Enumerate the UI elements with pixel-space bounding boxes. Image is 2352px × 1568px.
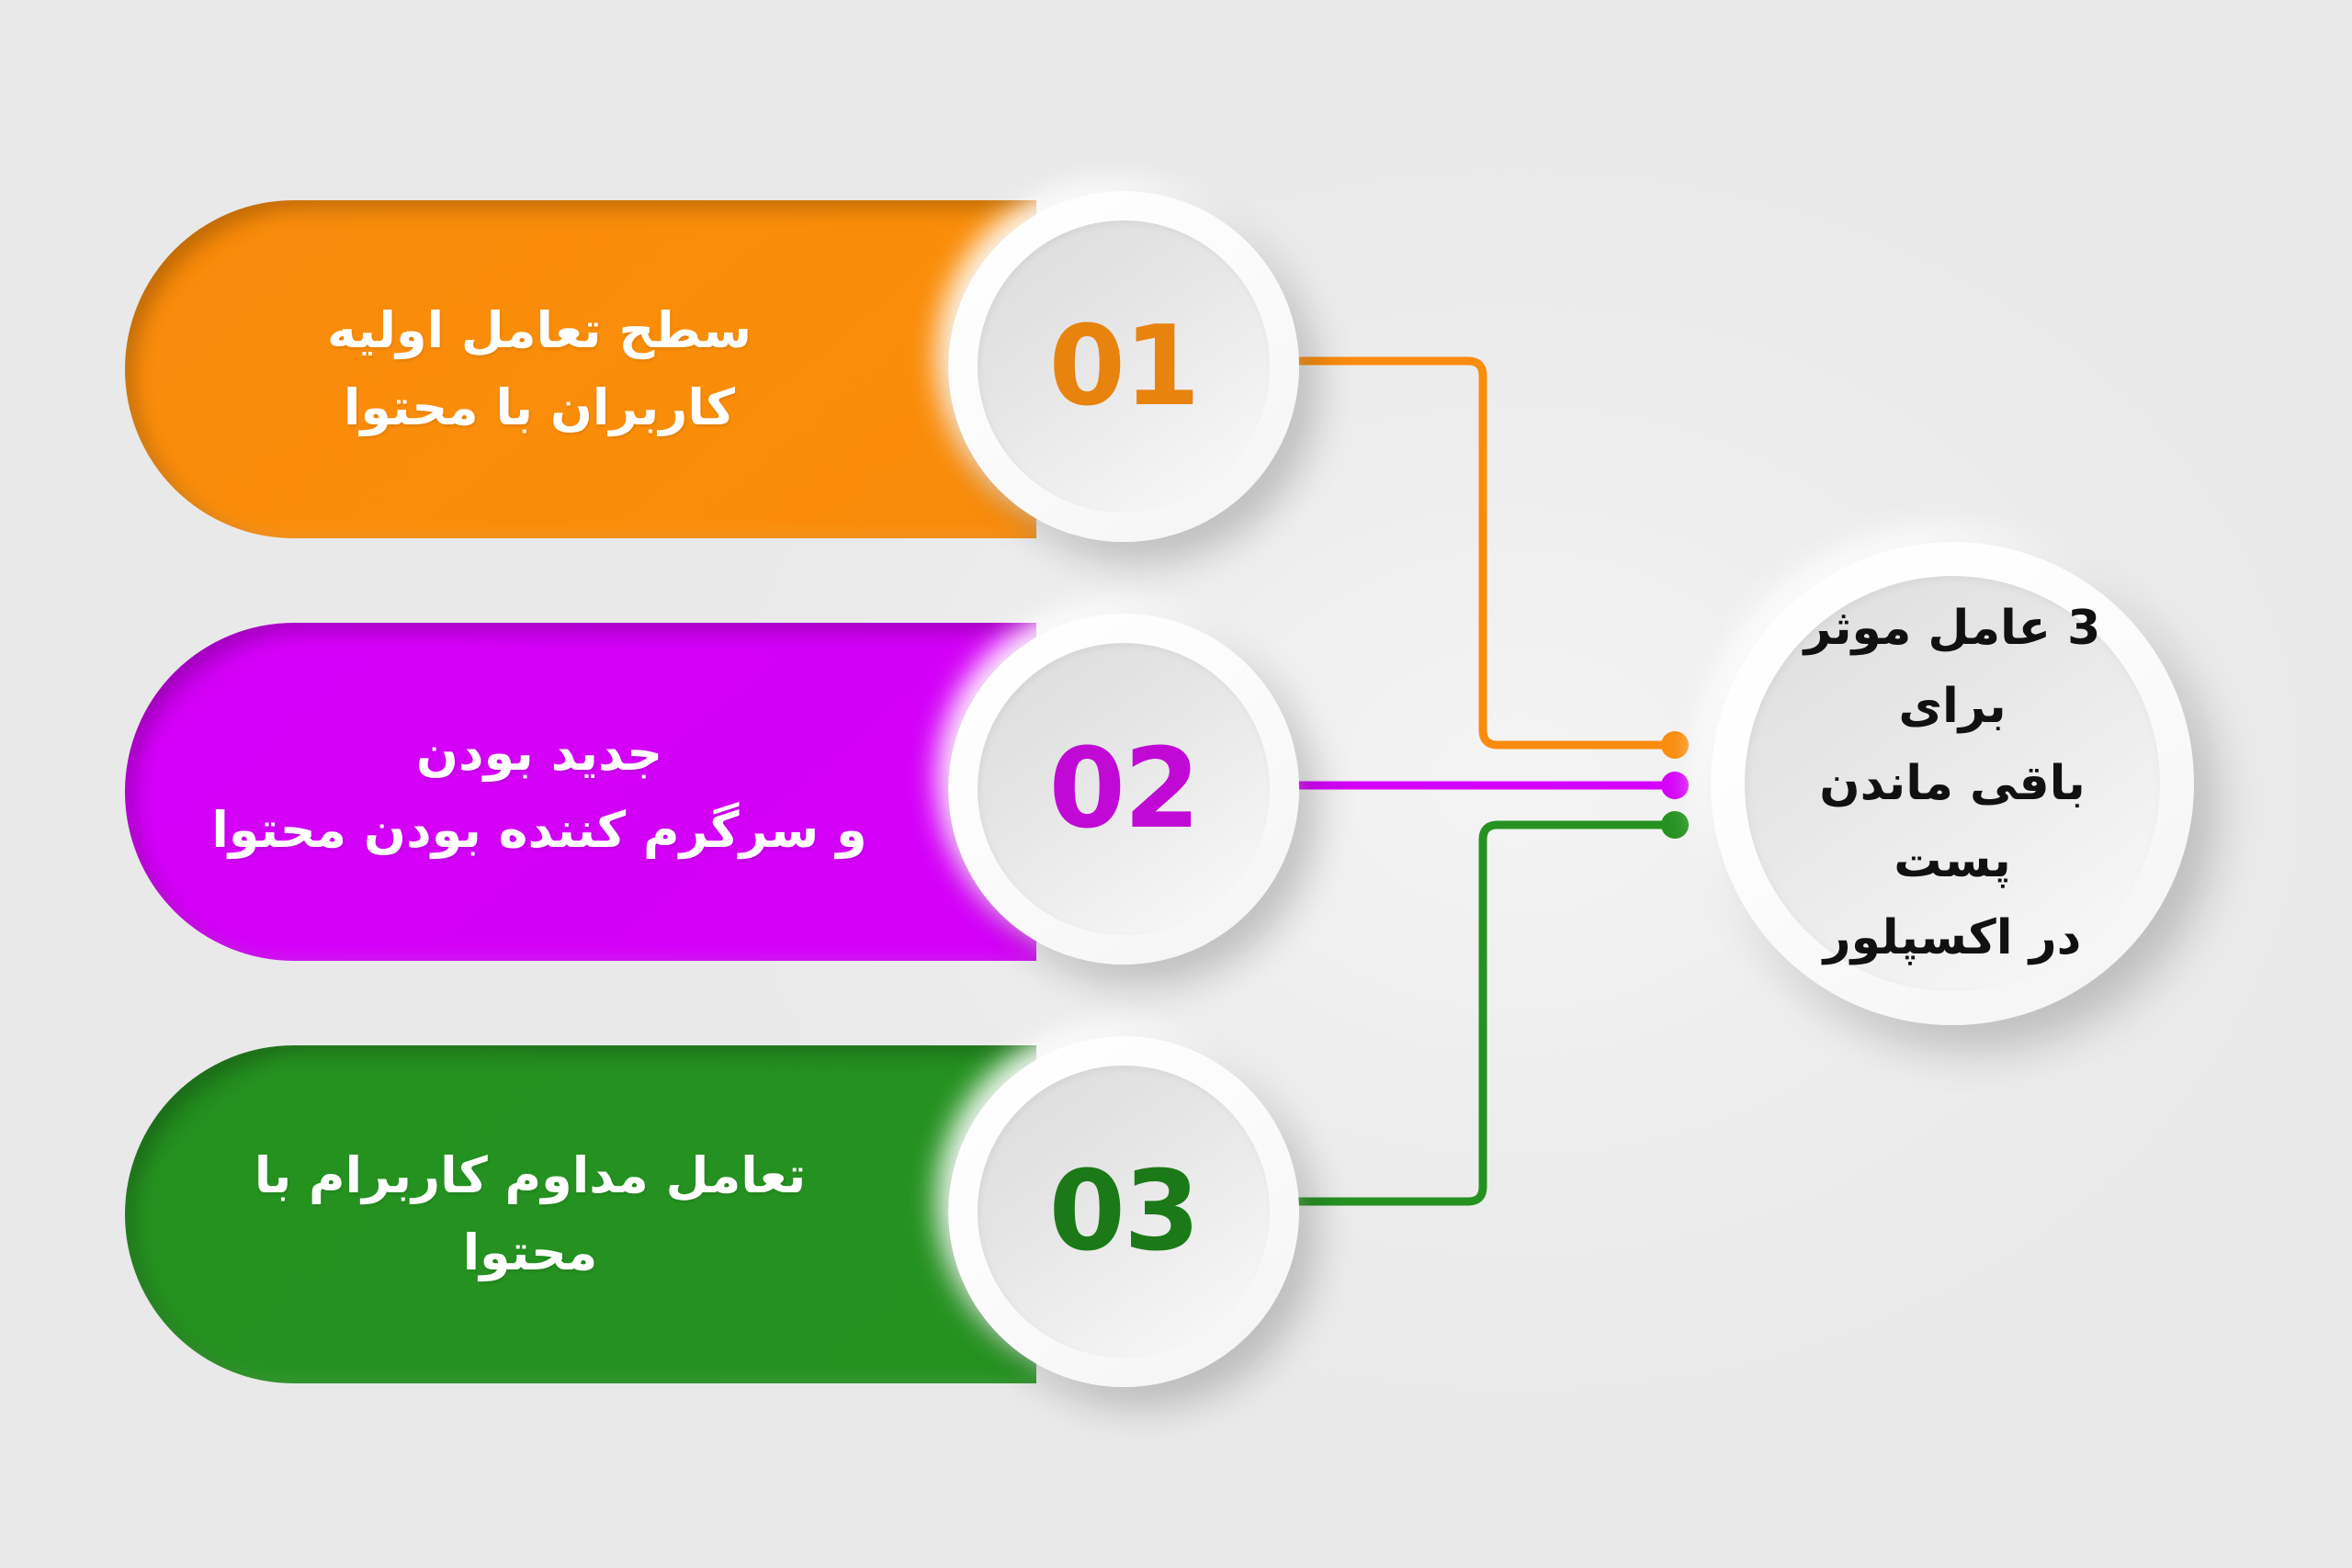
connector-dot-03 [1661,811,1689,839]
step-number-text-03: 03 [1049,1148,1199,1276]
step-number-circle-01[interactable]: 01 [948,191,1299,542]
connector-path-01 [1290,361,1674,745]
step-number-circle-02[interactable]: 02 [948,614,1299,964]
step-number-inner-01: 01 [978,220,1270,513]
step-number-circle-03[interactable]: 03 [948,1036,1299,1387]
step-label-01: سطح تعامل اولیه کاربران با محتوا [327,292,752,446]
step-row-01: سطح تعامل اولیه کاربران با محتوا 01 [0,175,1323,542]
connector-dot-02 [1661,772,1689,799]
connector-path-03 [1290,825,1674,1201]
center-hub-title: 3 عامل موثر برای باقی ماندن پست در اکسپل… [1745,590,2160,976]
center-hub-inner: 3 عامل موثر برای باقی ماندن پست در اکسپل… [1745,576,2160,991]
connector-dot-01 [1661,731,1689,759]
step-row-03: تعامل مداوم کاربرام با محتوا 03 [0,1020,1323,1387]
step-label-03: تعامل مداوم کاربرام با محتوا [180,1137,899,1291]
step-label-02: جدید بودن و سرگرم کننده بودن محتوا [211,715,866,868]
step-number-text-02: 02 [1049,726,1199,853]
infographic-canvas: سطح تعامل اولیه کاربران با محتوا 01 جدید… [0,0,2352,1568]
step-number-inner-03: 03 [978,1066,1270,1358]
center-hub-circle[interactable]: 3 عامل موثر برای باقی ماندن پست در اکسپل… [1711,542,2194,1025]
step-bar-01[interactable]: سطح تعامل اولیه کاربران با محتوا [125,200,1036,538]
step-number-inner-02: 02 [978,643,1270,935]
step-bar-03[interactable]: تعامل مداوم کاربرام با محتوا [125,1045,1036,1383]
step-bar-02[interactable]: جدید بودن و سرگرم کننده بودن محتوا [125,623,1036,961]
step-row-02: جدید بودن و سرگرم کننده بودن محتوا 02 [0,597,1323,964]
step-number-text-01: 01 [1049,303,1199,431]
